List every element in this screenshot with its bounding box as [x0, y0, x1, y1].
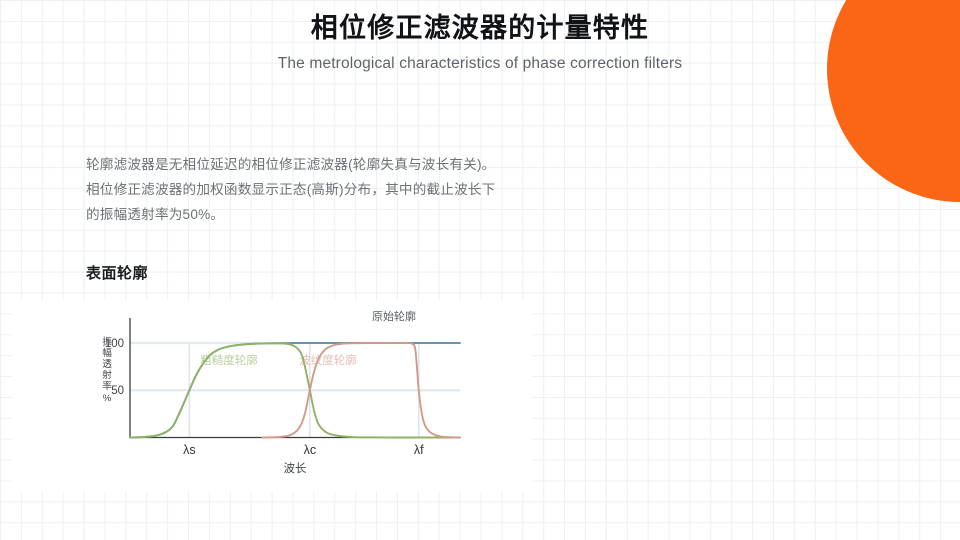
- y-axis-title-char-1: 幅: [102, 347, 112, 359]
- series-label-roughness-profile: 粗糙度轮廓: [200, 353, 258, 367]
- chart-gridlines: [130, 343, 460, 390]
- series-label-waviness-profile: 波纹度轮廓: [299, 353, 357, 367]
- y-axis-title-char-0: 振: [102, 336, 112, 348]
- primary-profile-annotation: 原始轮廓: [372, 309, 416, 323]
- y-axis-title-char-5: %: [103, 393, 112, 404]
- y-axis-title-char-3: 射: [102, 369, 112, 381]
- section-heading: 表面轮廓: [86, 262, 148, 283]
- y-axis-title-char-2: 透: [102, 359, 112, 370]
- x-axis-title: 波长: [284, 462, 307, 475]
- y-axis-title: 振 幅 透 射 率 %: [102, 336, 112, 404]
- y-axis-title-char-4: 率: [102, 380, 112, 392]
- xtick-label-lambda-f: λf: [414, 443, 424, 457]
- ytick-label-50: 50: [111, 385, 124, 397]
- page-title: 相位修正滤波器的计量特性: [0, 11, 960, 46]
- page-subtitle: The metrological characteristics of phas…: [0, 55, 960, 73]
- xtick-label-lambda-s: λs: [183, 443, 196, 457]
- slide-header: 相位修正滤波器的计量特性 The metrological characteri…: [0, 0, 960, 73]
- surface-profile-chart-card: 100 50 振 幅 透 射 率 % λs λc λf 波长 原始轮廓 粗糙度轮…: [12, 300, 532, 492]
- intro-paragraph: 轮廓滤波器是无相位延迟的相位修正滤波器(轮廓失真与波长有关)。相位修正滤波器的加…: [86, 152, 506, 227]
- xtick-label-lambda-c: λc: [304, 443, 317, 457]
- amplitude-transmission-chart: 100 50 振 幅 透 射 率 % λs λc λf 波长 原始轮廓 粗糙度轮…: [12, 300, 532, 492]
